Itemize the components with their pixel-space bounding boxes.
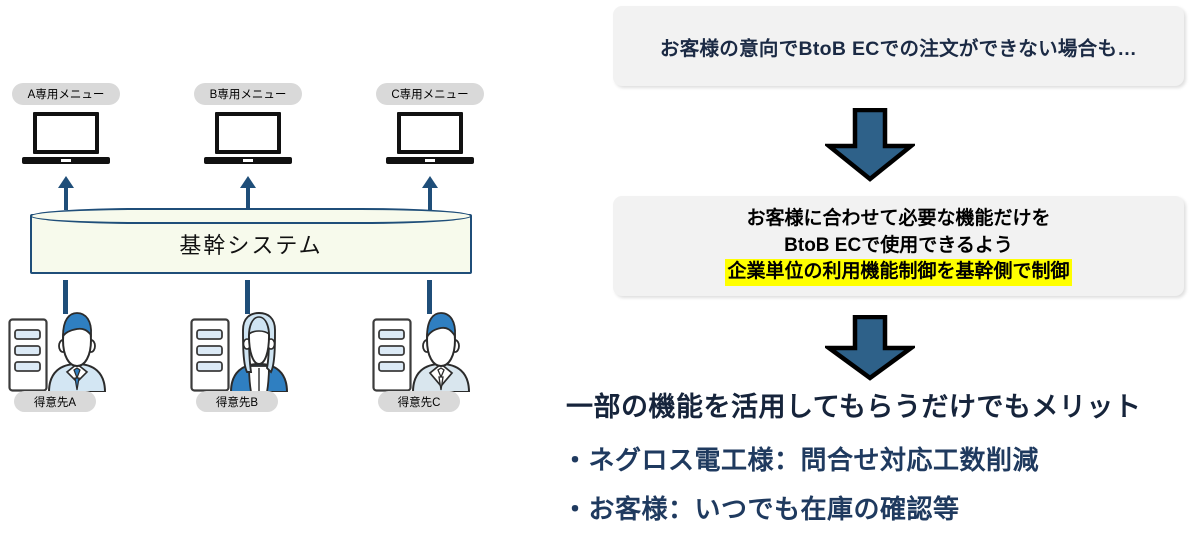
conclusion-bullet-2: ・お客様：いつでも在庫の確認等: [552, 489, 1200, 526]
laptop-icon: [22, 112, 110, 164]
laptop-screen: [397, 112, 463, 154]
arrow-down-icon: [825, 315, 915, 386]
core-system-label: 基幹システム: [30, 214, 472, 274]
person-female-icon: [223, 310, 295, 392]
menu-pill-a: A専用メニュー: [12, 83, 120, 105]
laptop-icon: [204, 112, 292, 164]
menu-pill-c: C専用メニュー: [376, 83, 484, 105]
arrow-up-icon: [421, 176, 439, 210]
solution-line-2: BtoB ECで使用できるよう: [784, 233, 1013, 260]
connector-line-a: [63, 280, 68, 314]
laptop-icon: [386, 112, 474, 164]
solution-line-3-highlighted: 企業単位の利用機能制御を基幹側で制御: [725, 259, 1071, 286]
conclusion-bullet-1: ・ネグロス電工様：問合せ対応工数削減: [552, 440, 1200, 477]
conclusion-block: 一部の機能を活用してもらうだけでもメリット ・ネグロス電工様：問合せ対応工数削減…: [552, 385, 1200, 538]
arrow-up-icon: [57, 176, 75, 210]
laptop-screen: [33, 112, 99, 154]
problem-statement-box: お客様の意向でBtoB ECでの注文ができない場合も…: [613, 6, 1184, 86]
benefits-flow-panel: お客様の意向でBtoB ECでの注文ができない場合も… お客様に合わせて必要な機…: [520, 0, 1200, 543]
problem-statement-text: お客様の意向でBtoB ECでの注文ができない場合も…: [660, 32, 1137, 61]
solution-statement-box: お客様に合わせて必要な機能だけを BtoB ECで使用できるよう 企業単位の利用…: [613, 196, 1184, 296]
customer-group-b: 得意先B: [190, 310, 320, 410]
system-architecture-diagram: A専用メニュー B専用メニュー C専用メニュー: [0, 0, 520, 543]
laptop-screen: [215, 112, 281, 154]
arrow-down-icon: [825, 108, 915, 187]
person-male-suit-icon: [41, 310, 113, 392]
core-system-cylinder: 基幹システム: [30, 208, 472, 280]
arrow-up-icon: [239, 176, 257, 210]
laptop-notch: [243, 159, 253, 162]
laptop-notch: [425, 159, 435, 162]
menu-pill-b: B専用メニュー: [194, 83, 302, 105]
solution-line-1: お客様に合わせて必要な機能だけを: [746, 206, 1050, 233]
connector-line-b: [245, 280, 250, 314]
laptop-notch: [61, 159, 71, 162]
customer-label-a: 得意先A: [14, 391, 96, 412]
customer-group-a: 得意先A: [8, 310, 138, 410]
customer-label-b: 得意先B: [196, 391, 278, 412]
conclusion-heading: 一部の機能を活用してもらうだけでもメリット: [552, 385, 1200, 424]
connector-line-c: [427, 280, 432, 314]
person-male-suit-icon: [405, 310, 477, 392]
slide-canvas: A専用メニュー B専用メニュー C専用メニュー: [0, 0, 1200, 543]
customer-label-c: 得意先C: [378, 391, 460, 412]
customer-group-c: 得意先C: [372, 310, 502, 410]
